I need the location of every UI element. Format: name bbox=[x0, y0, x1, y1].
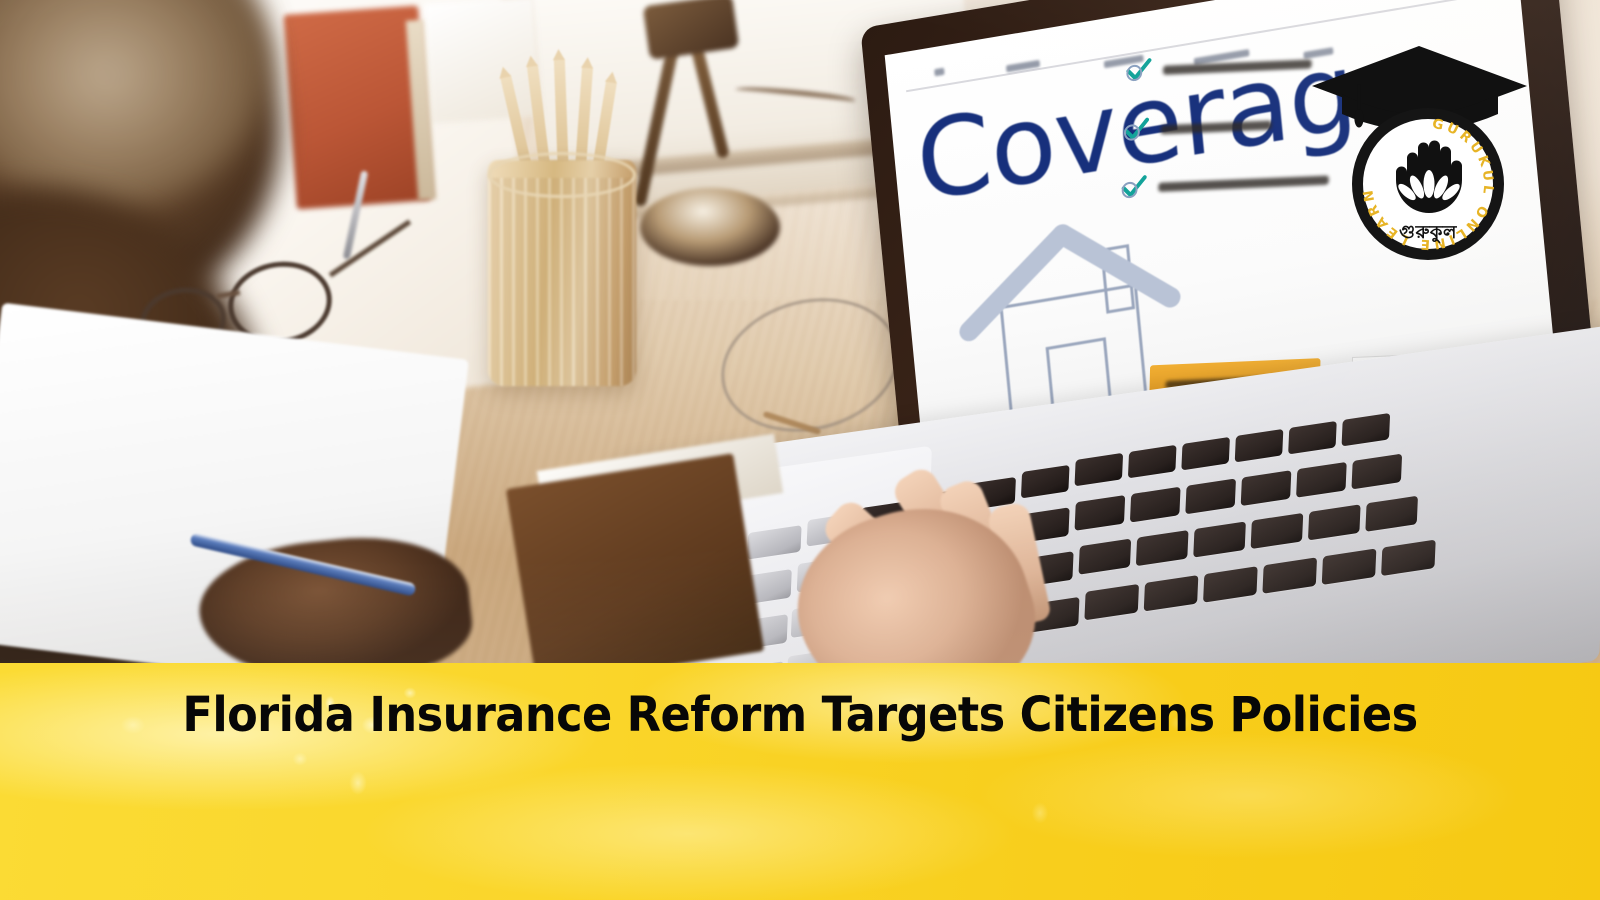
key[interactable] bbox=[1322, 548, 1377, 584]
key[interactable] bbox=[1308, 504, 1361, 540]
key[interactable] bbox=[1251, 513, 1304, 549]
key[interactable] bbox=[1193, 521, 1246, 557]
key[interactable] bbox=[1203, 566, 1258, 602]
page-title: Florida Insurance Reform Targets Citizen… bbox=[56, 690, 1544, 740]
check-icon-3 bbox=[1120, 174, 1146, 201]
key[interactable] bbox=[1130, 487, 1181, 523]
key[interactable] bbox=[1296, 462, 1347, 498]
key[interactable] bbox=[1144, 575, 1199, 611]
desk-lamp-base bbox=[640, 188, 780, 266]
page-root: Coverage bbox=[0, 0, 1600, 900]
key[interactable] bbox=[1351, 454, 1402, 490]
brown-book bbox=[506, 453, 764, 665]
site-logo[interactable]: GURUKUL ONLINE LEARNING গুরুকুল bbox=[1318, 36, 1518, 246]
key[interactable] bbox=[1365, 496, 1418, 532]
checklist-text-2 bbox=[1161, 120, 1272, 134]
check-icon-1 bbox=[1125, 57, 1151, 84]
hand-typing bbox=[800, 440, 1130, 665]
screen-nav-item-1[interactable] bbox=[934, 68, 945, 77]
hand-lotus-emblem-icon bbox=[1384, 128, 1474, 220]
key[interactable] bbox=[1381, 540, 1436, 576]
hand-holding-pen bbox=[170, 500, 500, 665]
checklist-text-1 bbox=[1163, 59, 1312, 74]
logo-script-text: গুরুকুল bbox=[1352, 218, 1504, 249]
checklist-text-3 bbox=[1158, 175, 1329, 191]
key[interactable] bbox=[1181, 437, 1230, 471]
key[interactable] bbox=[1241, 470, 1292, 506]
key[interactable] bbox=[747, 525, 802, 559]
key[interactable] bbox=[1185, 478, 1236, 514]
check-icon-2 bbox=[1123, 117, 1149, 144]
pencil-cup-ribs bbox=[488, 178, 636, 386]
pencil-cup-rim bbox=[488, 152, 636, 198]
key[interactable] bbox=[1136, 530, 1189, 566]
key[interactable] bbox=[1262, 557, 1317, 593]
